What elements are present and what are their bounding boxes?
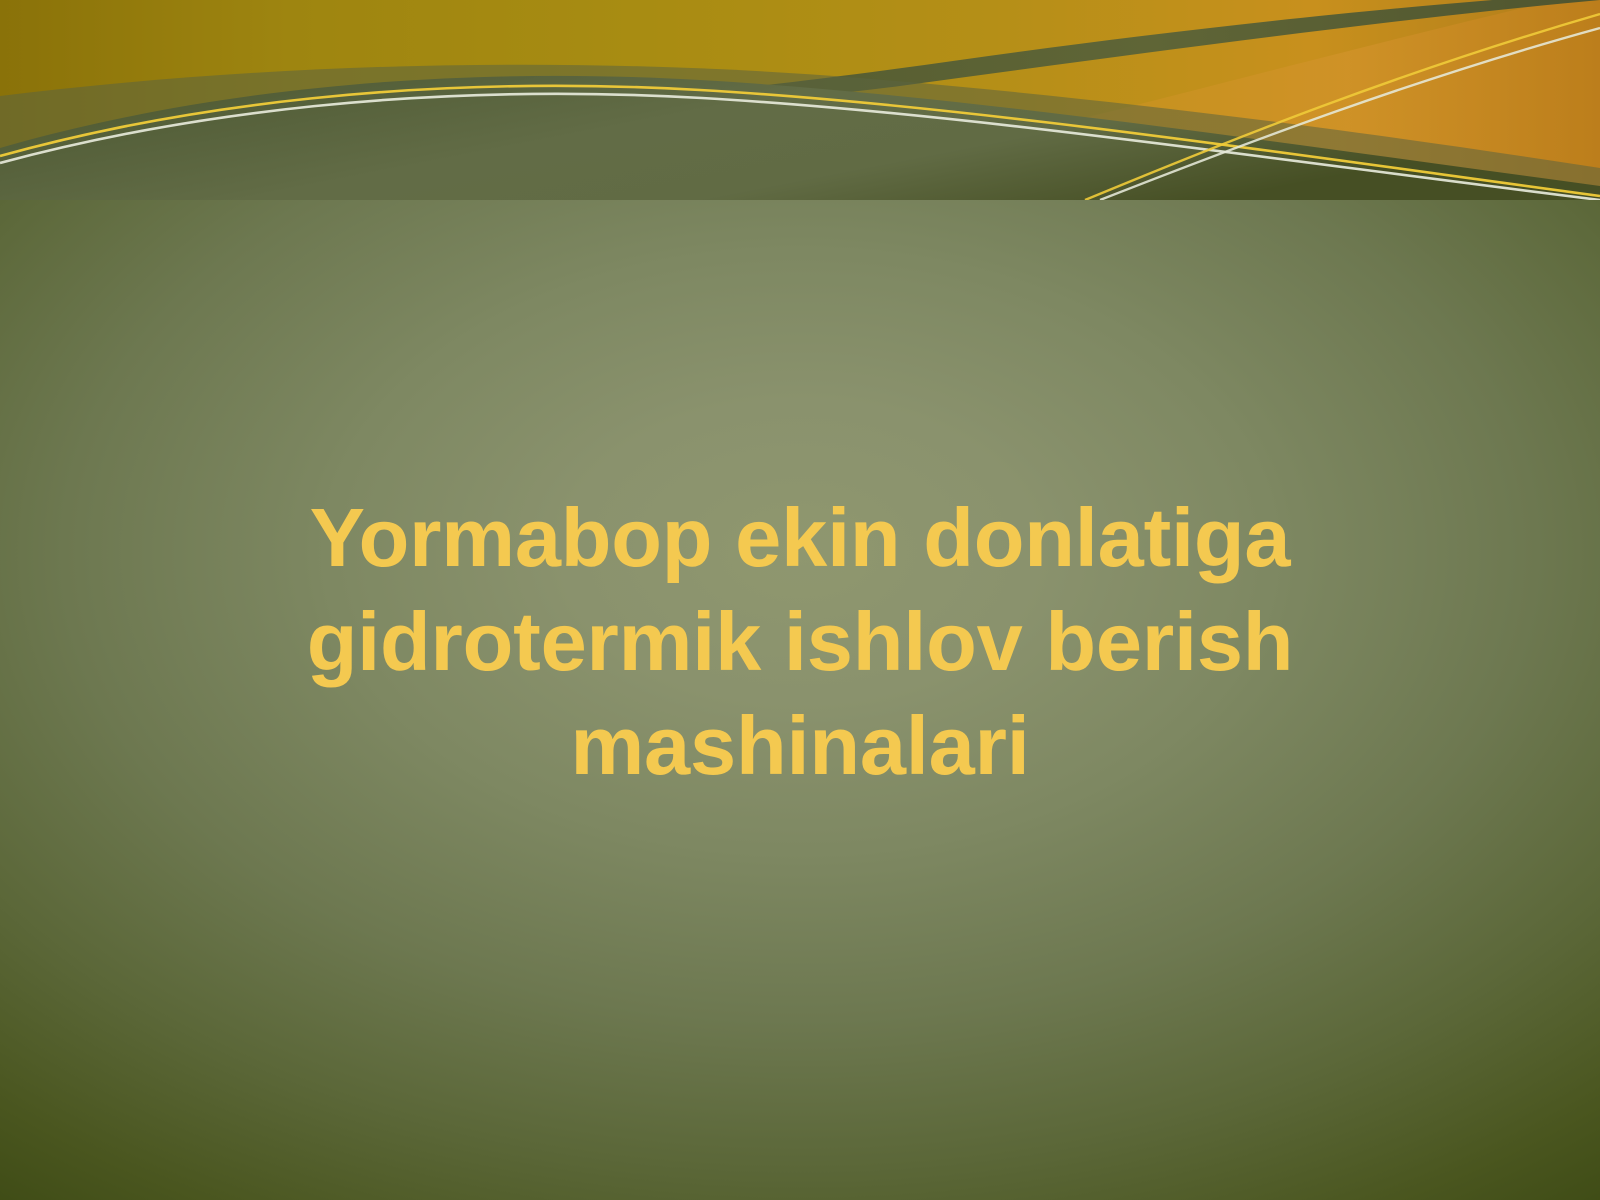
top-wave-decoration-icon — [0, 0, 1600, 200]
slide-title: Yormabop ekin donlatiga gidrotermik ishl… — [210, 486, 1390, 798]
slide-title-line-3: mashinalari — [210, 694, 1390, 798]
title-slide: Yormabop ekin donlatiga gidrotermik ishl… — [0, 0, 1600, 1200]
slide-title-line-2: gidrotermik ishlov berish — [210, 590, 1390, 694]
slide-title-line-1: Yormabop ekin donlatiga — [210, 486, 1390, 590]
